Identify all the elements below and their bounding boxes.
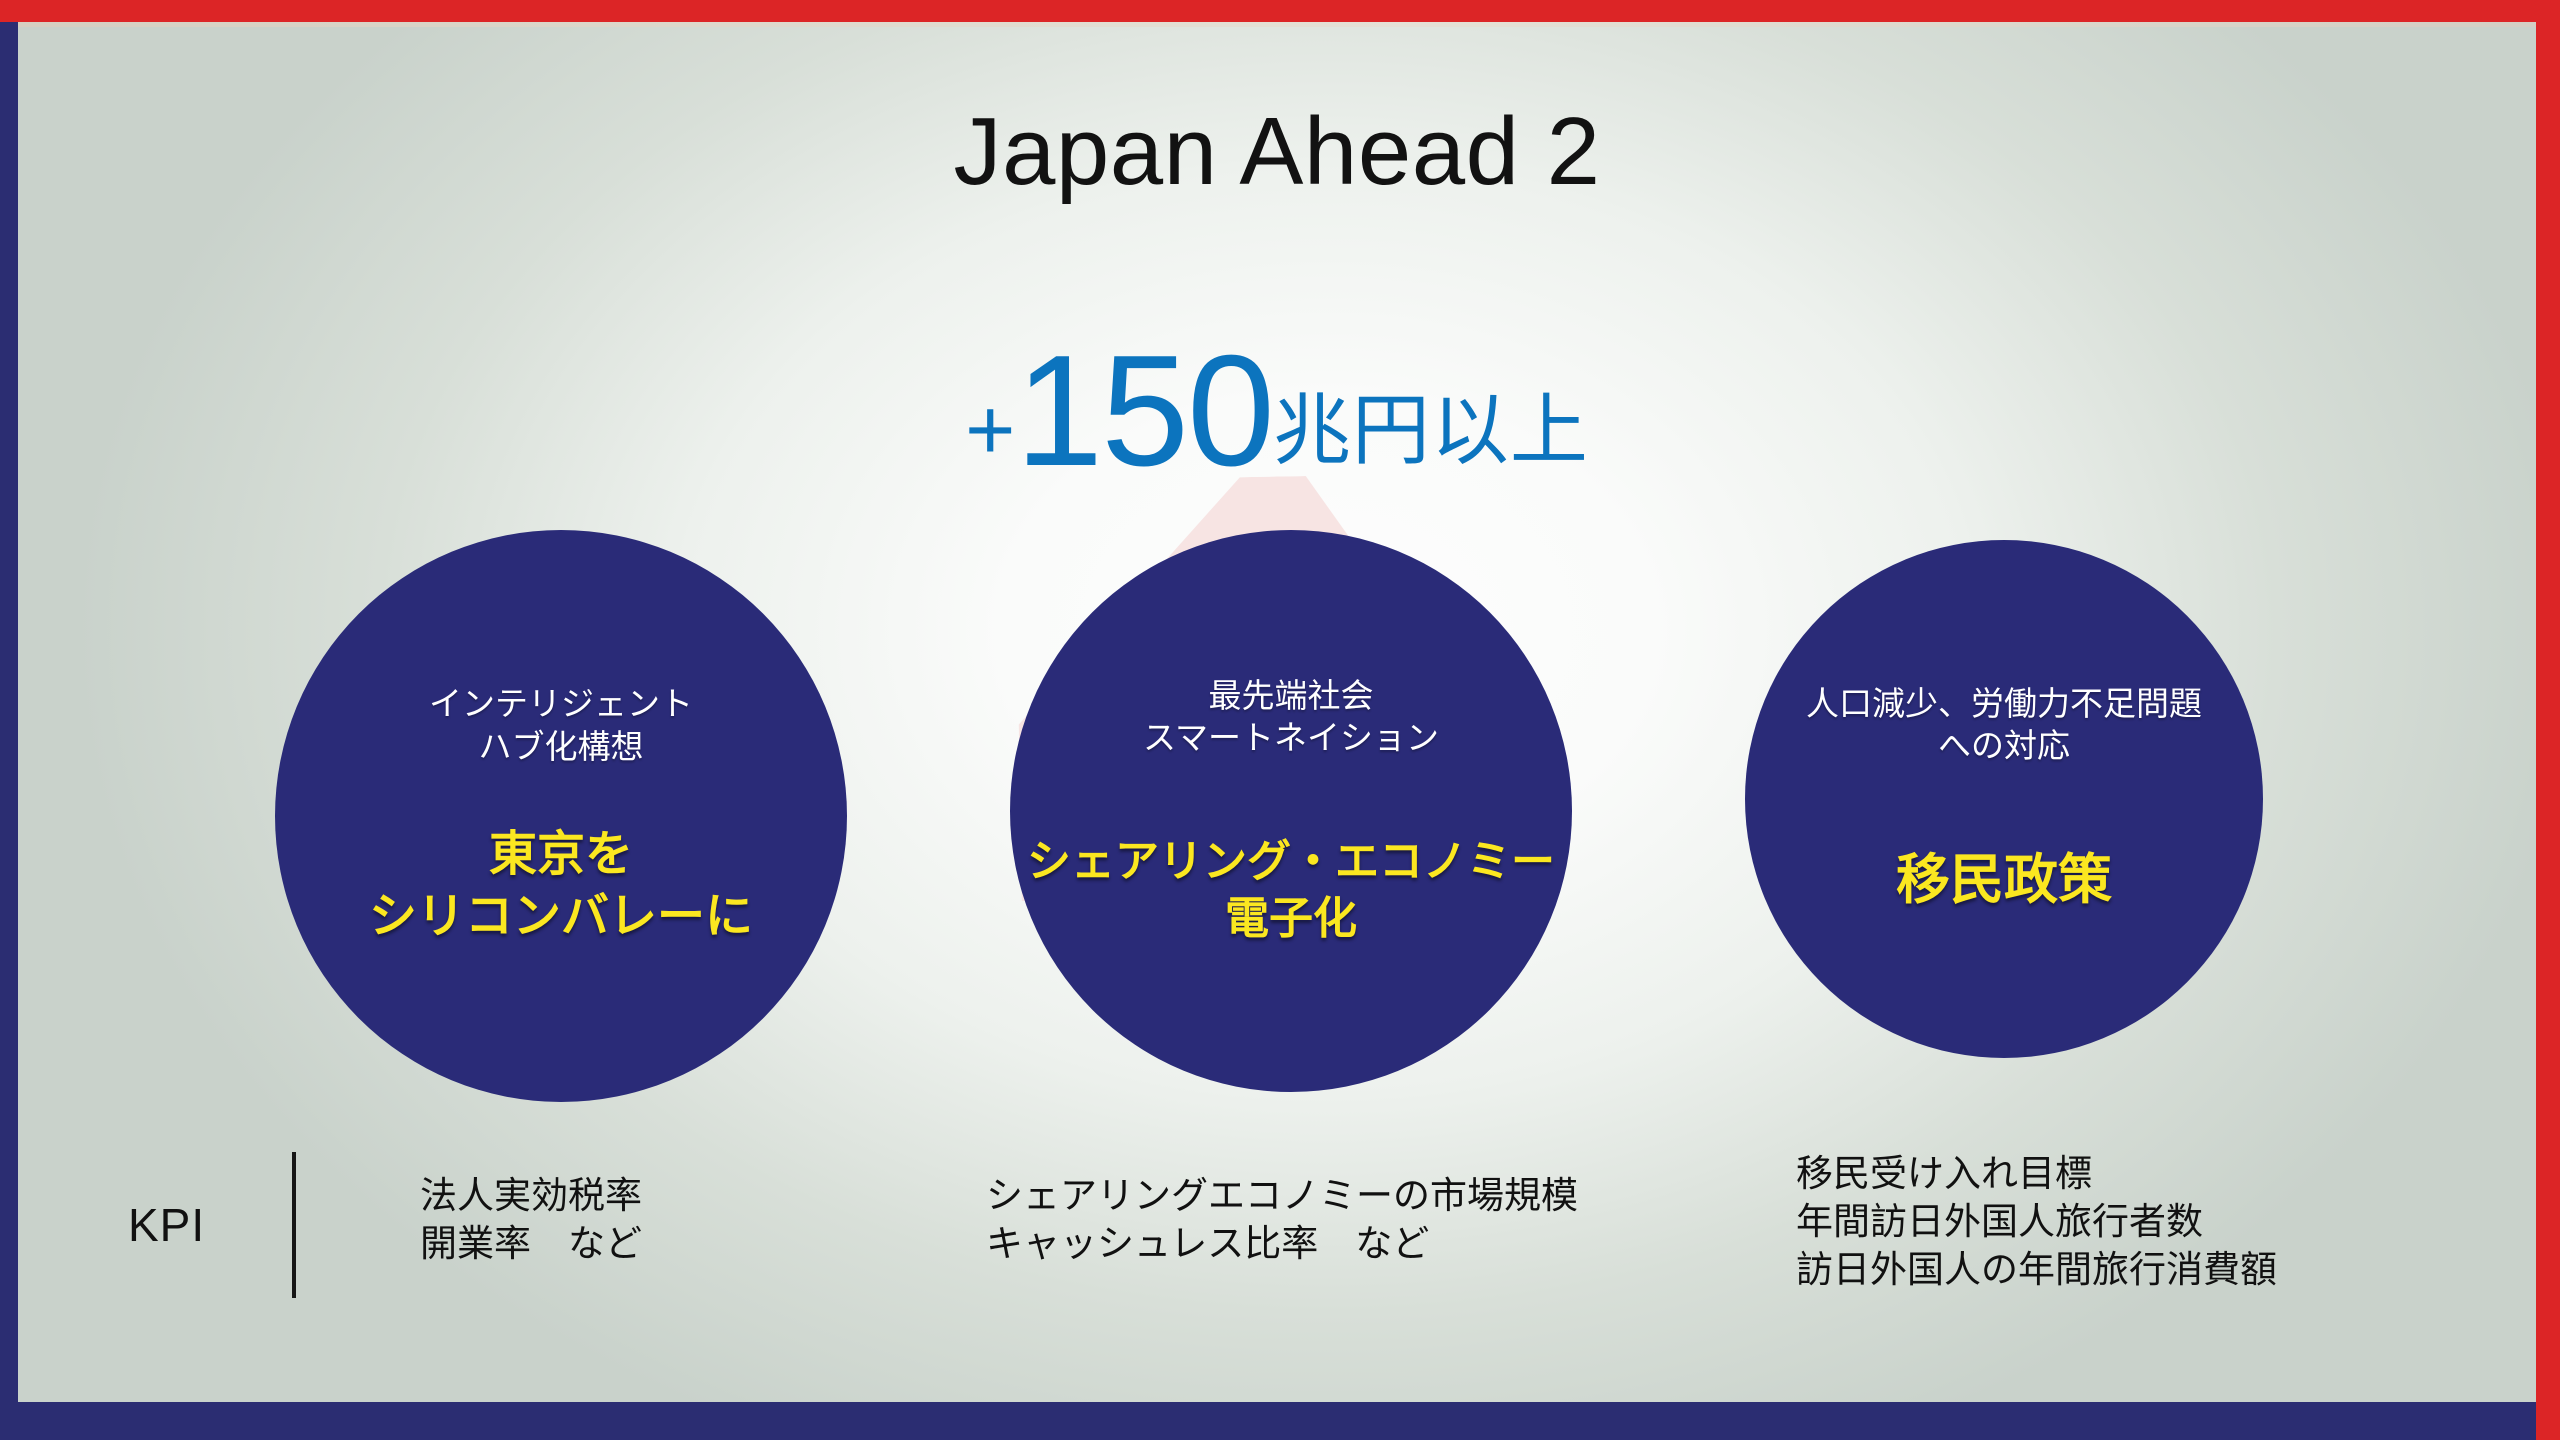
kpi-item: キャッシュレス比率 など	[986, 1220, 1578, 1268]
slide-border-bottom	[0, 1402, 2560, 1440]
pillar-subtitle-line-2: への対応	[1938, 725, 2070, 767]
headline-unit: 兆円以上	[1273, 386, 1589, 474]
pillar-headline-line-1: 移民政策	[1896, 845, 2112, 915]
pillar-subtitle-line-1: 最先端社会	[1209, 675, 1374, 717]
kpi-item: 訪日外国人の年間旅行消費額	[1796, 1246, 2277, 1294]
slide-border-left	[0, 0, 18, 1440]
pillar-headline-line-2: シリコンバレーに	[369, 886, 753, 948]
slide-canvas: Japan Ahead 2 +150兆円以上 インテリジェント ハブ化構想 東京…	[18, 22, 2536, 1402]
kpi-label: KPI	[128, 1198, 205, 1252]
pillar-circle-intelligent-hub[interactable]: インテリジェント ハブ化構想 東京を シリコンバレーに	[275, 530, 847, 1102]
kpi-item: 移民受け入れ目標	[1796, 1150, 2277, 1198]
kpi-item: 開業率 など	[420, 1220, 642, 1268]
kpi-item: シェアリングエコノミーの市場規模	[986, 1172, 1578, 1220]
kpi-column-immigration-policy: 移民受け入れ目標 年間訪日外国人旅行者数 訪日外国人の年間旅行消費額	[1796, 1150, 2277, 1294]
headline-figure: +150兆円以上	[18, 332, 2536, 490]
pillar-circle-immigration-policy[interactable]: 人口減少、労働力不足問題 への対応 移民政策	[1745, 540, 2263, 1058]
headline-number: 150	[1015, 323, 1273, 499]
pillar-headline-line-1: シェアリング・エコノミー	[1027, 833, 1555, 890]
pillar-subtitle-line-2: スマートネイション	[1143, 717, 1439, 759]
kpi-item: 年間訪日外国人旅行者数	[1796, 1198, 2277, 1246]
kpi-divider	[292, 1152, 296, 1298]
slide-border-top	[0, 0, 2560, 22]
kpi-column-smart-nation: シェアリングエコノミーの市場規模 キャッシュレス比率 など	[986, 1172, 1578, 1268]
page-title: Japan Ahead 2	[18, 97, 2536, 207]
kpi-item: 法人実効税率	[420, 1172, 642, 1220]
presentation-slide: Japan Ahead 2 +150兆円以上 インテリジェント ハブ化構想 東京…	[0, 0, 2560, 1440]
pillar-headline-line-1: 東京を	[489, 824, 633, 886]
pillar-subtitle-line-2: ハブ化構想	[479, 726, 644, 768]
headline-plus-sign: +	[965, 382, 1015, 478]
slide-border-right	[2536, 0, 2560, 1440]
pillar-circle-smart-nation[interactable]: 最先端社会 スマートネイション シェアリング・エコノミー 電子化	[1010, 530, 1572, 1092]
pillar-subtitle-line-1: 人口減少、労働力不足問題	[1806, 683, 2202, 725]
kpi-column-intelligent-hub: 法人実効税率 開業率 など	[420, 1172, 642, 1268]
pillar-headline-line-2: 電子化	[1225, 890, 1357, 947]
kpi-section: KPI 法人実効税率 開業率 など シェアリングエコノミーの市場規模 キャッシュ…	[18, 1142, 2536, 1342]
pillar-subtitle-line-1: インテリジェント	[429, 683, 693, 725]
